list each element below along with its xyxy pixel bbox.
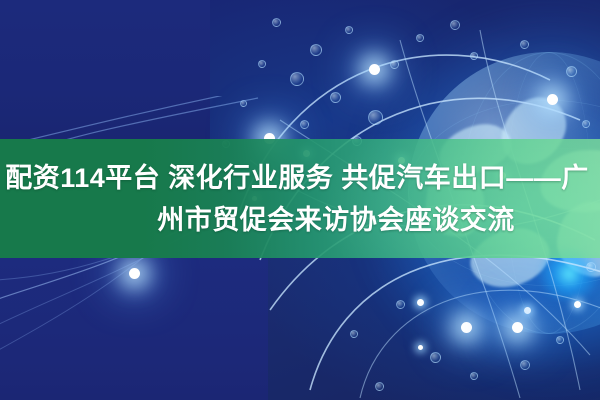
network-node — [417, 299, 424, 306]
network-node — [512, 322, 523, 333]
bubble-particle — [396, 300, 405, 309]
network-node — [461, 322, 472, 333]
bubble-particle — [310, 44, 322, 56]
bubble-particle — [330, 92, 341, 103]
bubble-particle — [566, 66, 577, 77]
network-node — [547, 94, 558, 105]
bubble-particle — [520, 360, 530, 370]
bubble-particle — [470, 52, 478, 60]
network-node — [524, 307, 531, 314]
bubble-particle — [345, 26, 353, 34]
bubble-particle — [556, 336, 564, 344]
headline-line-2: 州市贸促会来访协会座谈交流 — [157, 200, 515, 240]
bubble-particle — [258, 60, 266, 68]
headline-line-1: 配资114平台 深化行业服务 共促汽车出口——广 — [5, 158, 589, 198]
bubble-particle — [586, 262, 596, 272]
network-node — [418, 345, 423, 350]
bubble-particle — [290, 72, 304, 86]
bubble-particle — [416, 34, 424, 42]
bubble-particle — [582, 120, 590, 128]
bubble-particle — [430, 352, 441, 363]
bubble-particle — [520, 40, 529, 49]
promo-banner: 配资114平台 深化行业服务 共促汽车出口——广 州市贸促会来访协会座谈交流 — [0, 0, 600, 400]
bubble-particle — [375, 382, 384, 391]
bubble-particle — [300, 120, 309, 129]
headline-text-block: 配资114平台 深化行业服务 共促汽车出口——广 州市贸促会来访协会座谈交流 — [0, 139, 600, 258]
network-node — [574, 301, 581, 308]
bubble-particle — [390, 60, 399, 69]
network-node — [369, 64, 380, 75]
bubble-particle — [350, 330, 358, 338]
bubble-particle — [450, 20, 460, 30]
bubble-particle — [272, 18, 281, 27]
bubble-particle — [470, 372, 478, 380]
bubble-particle — [368, 110, 383, 125]
